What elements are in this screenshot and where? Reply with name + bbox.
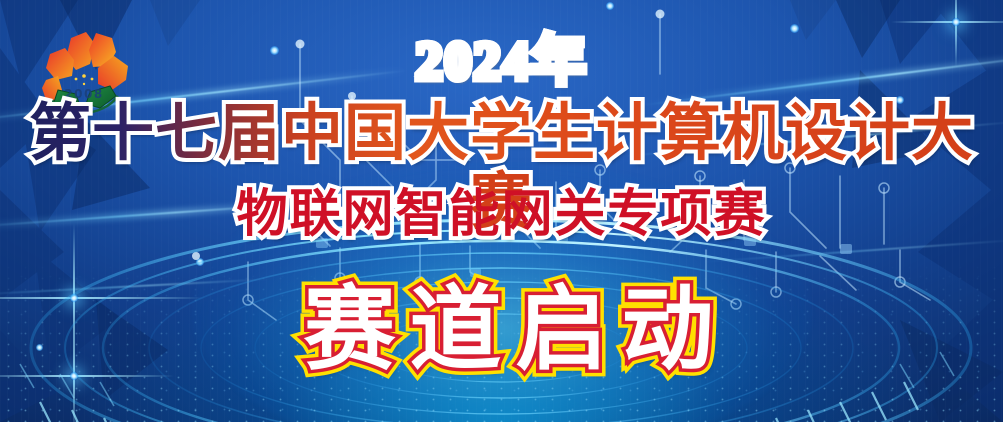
competition-banner: 2008 2024年 2024年 第十七届中国大学生计算机设计大赛 第十七届中国… bbox=[0, 0, 1003, 422]
year-line: 2024年 2024年 bbox=[0, 34, 1003, 88]
sub-title-text: 物联网智能网关专项赛 bbox=[236, 185, 766, 244]
slogan-text: 赛道启动 bbox=[303, 276, 727, 383]
year-line-text: 2024年 bbox=[416, 31, 588, 91]
slogan: 赛道启动 赛道启动 赛道启动 bbox=[0, 278, 1003, 381]
